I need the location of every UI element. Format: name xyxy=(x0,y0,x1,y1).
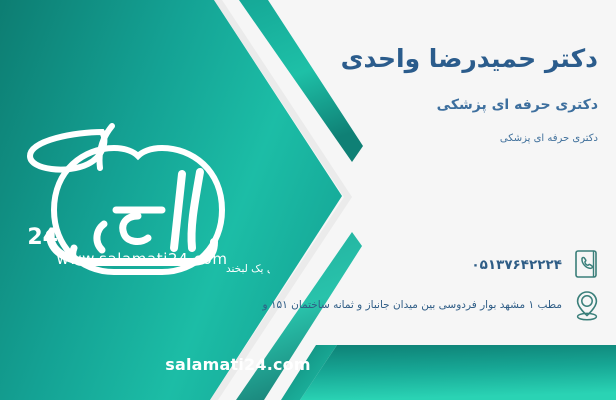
phone-book-icon xyxy=(572,248,602,282)
info-column: دکتر حمیدرضا واحدی دکتری حرفه ای پزشکی د… xyxy=(276,0,616,400)
degree-primary: دکتری حرفه ای پزشکی xyxy=(437,97,598,113)
business-card: 24 به راحتی یک لبخند www.salamati24.com … xyxy=(0,0,616,400)
doctor-name: دکتر حمیدرضا واحدی xyxy=(341,44,598,74)
footer-website: salamati24.com xyxy=(0,355,616,374)
contact-row-phone: ۰۵۱۳۷۶۴۲۲۲۴ xyxy=(471,248,602,282)
contact-row-address: مطب ۱ مشهد بوار فردوسی بین میدان جانباز … xyxy=(262,288,602,322)
degree-secondary: دکتری حرفه ای پزشکی xyxy=(500,133,598,144)
logo-website: www.salamati24.com xyxy=(14,250,270,268)
phone-number: ۰۵۱۳۷۶۴۲۲۲۴ xyxy=(471,257,562,273)
location-pin-icon xyxy=(572,288,602,322)
clinic-address: مطب ۱ مشهد بوار فردوسی بین میدان جانباز … xyxy=(262,299,562,311)
